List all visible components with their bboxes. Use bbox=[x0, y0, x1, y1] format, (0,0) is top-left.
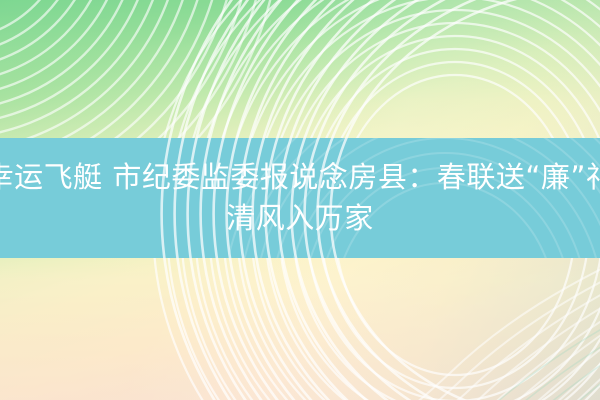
headline-line-2: 清风入万家 bbox=[226, 198, 374, 239]
news-banner: 幸运飞艇 市纪委监委报说念房县：春联送“廉”礼 清风入万家 bbox=[0, 0, 600, 400]
title-band: 幸运飞艇 市纪委监委报说念房县：春联送“廉”礼 清风入万家 bbox=[0, 138, 600, 258]
headline-line-1: 幸运飞艇 市纪委监委报说念房县：春联送“廉”礼 bbox=[0, 157, 600, 198]
